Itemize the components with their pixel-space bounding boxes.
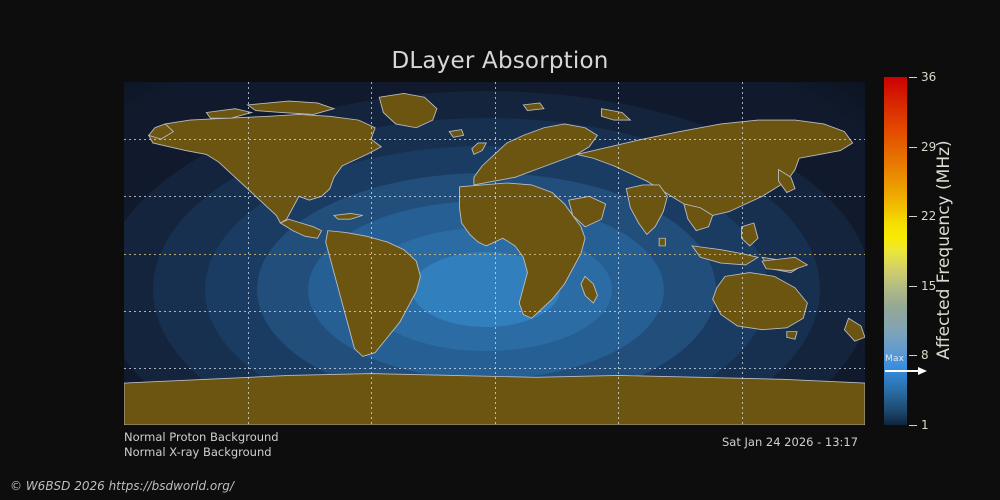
world-coastlines — [124, 82, 865, 425]
dlayer-absorption-chart: DLayer Absorption — [0, 0, 1000, 500]
colorbar-tick-label-1: 1 — [921, 418, 929, 432]
arrow-right-icon — [885, 367, 927, 375]
timestamp-label: Sat Jan 24 2026 - 13:17 — [722, 435, 858, 449]
world-map-panel[interactable] — [124, 82, 865, 425]
colorbar-max-marker: Max — [884, 356, 938, 376]
max-marker-label: Max — [885, 354, 904, 364]
copyright-credit: © W6BSD 2026 https://bsdworld.org/ — [10, 479, 234, 493]
colorbar-tick-36 — [909, 77, 917, 78]
colorbar-axis-label: Affected Frequency (MHz) — [934, 70, 954, 430]
colorbar-tick-15 — [909, 286, 917, 287]
page-title: DLayer Absorption — [0, 48, 1000, 74]
status-xray-background: Normal X-ray Background — [124, 445, 272, 459]
status-proton-background: Normal Proton Background — [124, 430, 279, 444]
colorbar-tick-22 — [909, 216, 917, 217]
colorbar-tick-29 — [909, 147, 917, 148]
colorbar-tick-1 — [909, 425, 917, 426]
